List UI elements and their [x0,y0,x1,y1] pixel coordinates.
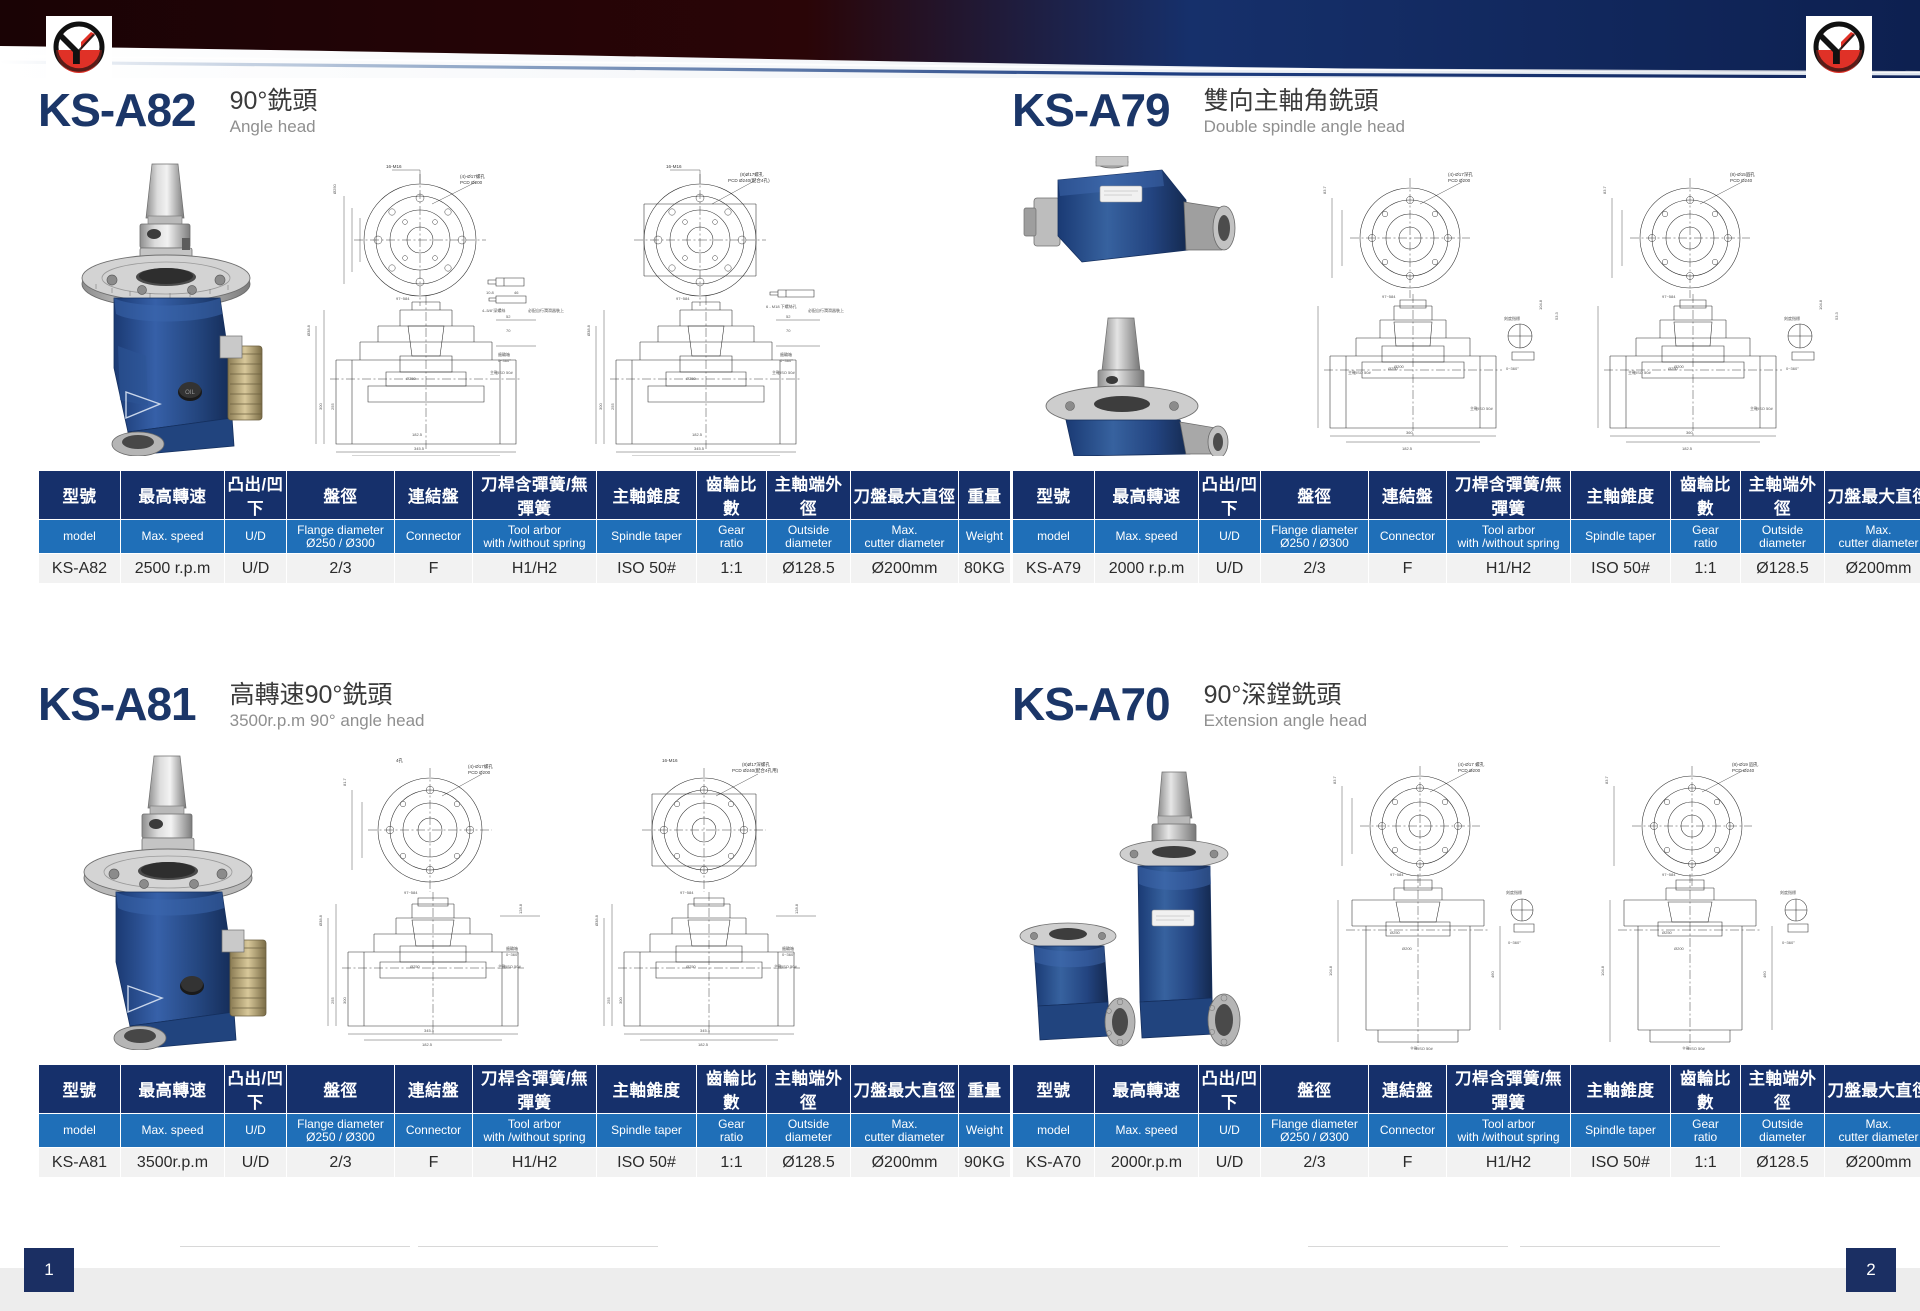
svg-text:104.8: 104.8 [1328,965,1333,976]
cell-ud: U/D [225,1148,287,1178]
th-en-ud: U/D [1199,520,1261,554]
product-photo-ks-a81 [56,750,296,1050]
cell-model: KS-A81 [39,1148,121,1178]
svg-text:Ø38.8: Ø38.8 [586,324,591,336]
technical-drawing-ks-a70: (4)-Ø17 螺孔 PCD Ø200 83.7 (8)-Ø19 圓孔 PCD … [1290,754,1884,1050]
th-cn-cut: 刀盤最大直徑 [851,1065,959,1114]
cell-taper: ISO 50# [1571,554,1671,584]
th-cn-out: 主軸端外徑 [767,471,851,520]
svg-text:Ø38.8: Ø38.8 [594,914,599,926]
svg-text:97~584: 97~584 [396,296,410,301]
svg-text:70: 70 [506,328,511,333]
svg-text:主軸ISO 50#: 主軸ISO 50# [498,963,521,969]
svg-text:97~584: 97~584 [1390,872,1404,877]
th-en-flange: Flange diameterØ250 / Ø300 [287,1114,395,1148]
svg-text:128.8: 128.8 [518,903,523,914]
product-panel-ks-a79: KS-A79 雙向主軸角銑頭 Double spindle angle head [1012,84,1884,584]
svg-text:46: 46 [514,290,519,295]
svg-text:104.8: 104.8 [1600,965,1605,976]
cell-speed: 2000 r.p.m [1095,554,1199,584]
cell-cut: Ø200mm [851,1148,959,1178]
product-title-en: 3500r.p.m 90° angle head [230,710,425,732]
th-en-conn: Connector [395,520,473,554]
svg-text:刻度指標: 刻度指標 [1784,315,1800,321]
cell-arbor: H1/H2 [1447,1148,1571,1178]
table-header-en: model Max. speed U/D Flange diameterØ250… [39,1114,1011,1148]
table-header-cn: 型號 最高轉速 凸出/凹下 盤徑 連結盤 刀桿含彈簧/無彈簧 主軸錐度 齒輪比數… [39,471,1011,520]
th-cn-weight: 重量 [959,1065,1011,1114]
cell-flange: 2/3 [1261,1148,1369,1178]
page-number-left: 1 [24,1248,74,1292]
svg-text:83.7: 83.7 [1602,185,1607,194]
table-header-cn: 型號 最高轉速 凸出/凹下 盤徑 連結盤 刀桿含彈簧/無彈簧 主軸錐度 齒輪比數… [39,1065,1011,1114]
figure-area: (4)-Ø17螺孔 PCD Ø200 4孔 81.7 16-M16 (8)Ø17… [38,750,910,1050]
th-cn-weight: 重量 [959,471,1011,520]
th-cn-ud: 凸出/凹下 [225,471,287,520]
svg-text:0~360°: 0~360° [498,358,511,363]
cell-arbor: H1/H2 [473,554,597,584]
drawing-svg: (4)-Ø17深孔 PCD Ø200 83.7 (8)-Ø15圓孔 PCD Ø2… [1290,160,1884,456]
cell-taper: ISO 50# [597,554,697,584]
product-photo-ks-a79 [1012,156,1272,456]
spec-table-ks-a82: 型號 最高轉速 凸出/凹下 盤徑 連結盤 刀桿含彈簧/無彈簧 主軸錐度 齒輪比數… [38,470,1011,584]
svg-text:PCD Ø200: PCD Ø200 [1448,178,1471,183]
product-title-en: Extension angle head [1204,710,1368,732]
cell-conn: F [395,554,473,584]
svg-text:182.5: 182.5 [1682,446,1693,451]
cell-ud: U/D [1199,554,1261,584]
product-title-cn: 高轉速90°銑頭 [230,680,425,710]
th-en-ud: U/D [225,1114,287,1148]
svg-text:齒輪箱: 齒輪箱 [782,945,794,951]
product-photo-ks-a82: OIL [56,156,296,456]
cell-ud: U/D [225,554,287,584]
svg-text:Ø250: Ø250 [410,964,421,969]
product-header: KS-A79 雙向主軸角銑頭 Double spindle angle head [1012,84,1884,150]
svg-text:Ø250: Ø250 [332,183,337,194]
product-title-cn: 90°銑頭 [230,86,318,116]
th-en-weight: Weight [959,1114,1011,1148]
th-en-out: Outsidediameter [1741,520,1825,554]
th-cn-gear: 齒輪比數 [1671,1065,1741,1114]
svg-text:255: 255 [610,403,615,410]
th-cn-cut: 刀盤最大直徑 [851,471,959,520]
th-en-flange: Flange diameterØ250 / Ø300 [1261,520,1369,554]
table-header-cn: 型號 最高轉速 凸出/凹下 盤徑 連結盤 刀桿含彈簧/無彈簧 主軸錐度 齒輪比數… [1013,471,1920,520]
th-cn-model: 型號 [1013,1065,1095,1114]
table-row: KS-A82 2500 r.p.m U/D 2/3 F H1/H2 ISO 50… [39,554,1011,584]
technical-drawing-ks-a82: (4)-Ø17螺孔 PCD Ø200 16-M16 10.8 46 4–5/8"… [300,160,910,456]
th-cn-model: 型號 [1013,471,1095,520]
th-en-flange: Flange diameterØ250 / Ø300 [287,520,395,554]
drawing-svg: (4)-Ø17 螺孔 PCD Ø200 83.7 (8)-Ø19 圓孔 PCD … [1290,754,1884,1050]
svg-text:345.5: 345.5 [424,1028,435,1033]
svg-text:300: 300 [618,997,623,1004]
svg-text:97~584: 97~584 [1662,872,1676,877]
svg-text:53.3: 53.3 [1834,311,1839,320]
product-header: KS-A81 高轉速90°銑頭 3500r.p.m 90° angle head [38,678,910,744]
th-cn-arbor: 刀桿含彈簧/無彈簧 [473,471,597,520]
top-banner [0,0,1920,78]
svg-text:主軸ISO 50#: 主軸ISO 50# [1410,1045,1433,1050]
table-header-en: model Max. speed U/D Flange diameterØ250… [1013,520,1920,554]
product-code: KS-A82 [38,84,196,136]
cell-cut: Ø200mm [851,554,959,584]
th-en-model: model [39,1114,121,1148]
th-cn-flange: 盤徑 [1261,1065,1369,1114]
cell-cut: Ø200mm [1825,1148,1920,1178]
th-cn-out: 主軸端外徑 [1741,471,1825,520]
th-cn-ud: 凸出/凹下 [1199,1065,1261,1114]
product-header: KS-A70 90°深鏜銑頭 Extension angle head [1012,678,1884,744]
cell-speed: 2000r.p.m [1095,1148,1199,1178]
svg-text:PCD Ø200: PCD Ø200 [460,180,483,185]
svg-text:182.5: 182.5 [412,432,423,437]
product-code: KS-A79 [1012,84,1170,136]
cell-flange: 2/3 [1261,554,1369,584]
svg-text:PCD Ø240: PCD Ø240 [1730,178,1753,183]
svg-text:必配自行潤滑器裝上: 必配自行潤滑器裝上 [808,307,844,313]
svg-text:Ø38.8: Ø38.8 [318,914,323,926]
product-panel-ks-a81: KS-A81 高轉速90°銑頭 3500r.p.m 90° angle head [38,678,910,1178]
svg-text:齒輪箱: 齒輪箱 [506,945,518,951]
cell-model: KS-A79 [1013,554,1095,584]
th-cn-taper: 主軸錐度 [1571,1065,1671,1114]
svg-text:0~360°: 0~360° [780,358,793,363]
company-logo-icon [51,20,107,74]
th-cn-cut: 刀盤最大直徑 [1825,471,1920,520]
th-cn-speed: 最高轉速 [121,471,225,520]
svg-text:83.7: 83.7 [1332,775,1337,784]
svg-text:Ø200: Ø200 [1402,946,1413,951]
cell-model: KS-A82 [39,554,121,584]
cell-arbor: H1/H2 [473,1148,597,1178]
th-en-gear: Gearratio [1671,1114,1741,1148]
svg-text:主軸ISO 50#: 主軸ISO 50# [774,963,797,969]
svg-text:Ø38.8: Ø38.8 [306,324,311,336]
product-title-en: Double spindle angle head [1204,116,1405,138]
page-number-right: 2 [1846,1248,1896,1292]
th-cn-arbor: 刀桿含彈簧/無彈簧 [1447,1065,1571,1114]
svg-text:(4)-Ø17 螺孔: (4)-Ø17 螺孔 [1458,761,1485,768]
svg-text:52: 52 [786,314,791,319]
cell-out: Ø128.5 [767,1148,851,1178]
figure-area: (4)-Ø17深孔 PCD Ø200 83.7 (8)-Ø15圓孔 PCD Ø2… [1012,156,1884,456]
svg-text:刻度指標: 刻度指標 [1780,889,1796,895]
th-en-arbor: Tool arborwith /without spring [1447,520,1571,554]
svg-text:0~360°: 0~360° [1786,366,1799,371]
th-cn-speed: 最高轉速 [1095,471,1199,520]
th-en-model: model [1013,1114,1095,1148]
footer-divider-right [1308,1246,1508,1247]
svg-text:104.8: 104.8 [1818,299,1823,310]
svg-text:OIL: OIL [185,390,195,396]
svg-text:0~360°: 0~360° [1508,940,1521,945]
footer-white-strip [0,1248,1920,1270]
svg-text:182.5: 182.5 [698,1042,709,1047]
svg-text:360: 360 [1406,430,1413,435]
th-cn-flange: 盤徑 [1261,471,1369,520]
th-cn-conn: 連結盤 [395,1065,473,1114]
svg-text:Ø200: Ø200 [1394,364,1405,369]
th-en-flange: Flange diameterØ250 / Ø300 [1261,1114,1369,1148]
th-cn-speed: 最高轉速 [121,1065,225,1114]
product-panel-ks-a82: KS-A82 90°銑頭 Angle head [38,84,910,584]
cell-cut: Ø200mm [1825,554,1920,584]
svg-text:345.5: 345.5 [700,1028,711,1033]
th-cn-ud: 凸出/凹下 [225,1065,287,1114]
table-header-cn: 型號 最高轉速 凸出/凹下 盤徑 連結盤 刀桿含彈簧/無彈簧 主軸錐度 齒輪比數… [1013,1065,1920,1114]
product-code: KS-A70 [1012,678,1170,730]
svg-text:PCD Ø240(配合4孔用): PCD Ø240(配合4孔用) [732,767,779,774]
svg-text:0~360°: 0~360° [782,952,795,957]
th-en-cut: Max.cutter diameter [851,1114,959,1148]
cell-flange: 2/3 [287,1148,395,1178]
th-en-arbor: Tool arborwith /without spring [1447,1114,1571,1148]
th-cn-cut: 刀盤最大直徑 [1825,1065,1920,1114]
cell-taper: ISO 50# [597,1148,697,1178]
drawing-svg: (4)-Ø17螺孔 PCD Ø200 4孔 81.7 16-M16 (8)Ø17… [300,754,910,1050]
svg-text:97~584: 97~584 [680,890,694,895]
cell-gear: 1:1 [1671,554,1741,584]
svg-text:52: 52 [506,314,511,319]
svg-text:300: 300 [342,997,347,1004]
svg-text:345.5: 345.5 [694,446,705,451]
svg-text:360: 360 [1686,430,1693,435]
svg-text:主軸ISO 50#: 主軸ISO 50# [1470,405,1493,411]
th-cn-out: 主軸端外徑 [1741,1065,1825,1114]
cell-arbor: H1/H2 [1447,554,1571,584]
svg-text:4孔: 4孔 [396,757,404,764]
th-en-conn: Connector [1369,1114,1447,1148]
svg-text:PCD Ø200: PCD Ø200 [1458,768,1481,773]
svg-text:主軸ISO 50#: 主軸ISO 50# [1348,369,1371,375]
th-en-ud: U/D [225,520,287,554]
angle-head-photo: OIL [56,156,296,456]
product-code: KS-A81 [38,678,196,730]
svg-text:Ø250: Ø250 [406,376,417,381]
cell-conn: F [395,1148,473,1178]
svg-text:16-M16: 16-M16 [662,758,678,763]
high-speed-angle-head-photo [56,750,296,1050]
svg-text:刻度指標: 刻度指標 [1506,889,1522,895]
th-cn-out: 主軸端外徑 [767,1065,851,1114]
svg-text:0~360°: 0~360° [1782,940,1795,945]
footer-bar [0,1268,1920,1311]
svg-text:(4)-Ø17螺孔: (4)-Ø17螺孔 [460,173,485,180]
th-cn-model: 型號 [39,1065,121,1114]
product-title-block: 雙向主軸角銑頭 Double spindle angle head [1204,84,1405,138]
th-en-taper: Spindle taper [1571,1114,1671,1148]
th-en-weight: Weight [959,520,1011,554]
svg-text:主軸ISO 50#: 主軸ISO 50# [772,369,795,375]
th-cn-conn: 連結盤 [1369,1065,1447,1114]
svg-text:97~584: 97~584 [676,296,690,301]
cell-weight: 90KG [959,1148,1011,1178]
cell-gear: 1:1 [1671,1148,1741,1178]
svg-text:(8)-Ø15圓孔: (8)-Ø15圓孔 [1730,171,1755,178]
product-panel-ks-a70: KS-A70 90°深鏜銑頭 Extension angle head [1012,678,1884,1178]
product-title-cn: 雙向主軸角銑頭 [1204,86,1405,116]
svg-text:主軸ISO 50#: 主軸ISO 50# [1750,405,1773,411]
drawing-svg: (4)-Ø17螺孔 PCD Ø200 16-M16 10.8 46 4–5/8"… [300,160,910,456]
double-spindle-photo [1012,156,1272,456]
svg-text:460: 460 [1762,971,1767,978]
cell-conn: F [1369,554,1447,584]
svg-text:齒輪箱: 齒輪箱 [780,351,792,357]
svg-text:主軸ISO 50#: 主軸ISO 50# [1682,1045,1705,1050]
th-en-taper: Spindle taper [597,1114,697,1148]
product-title-en: Angle head [230,116,318,138]
th-en-taper: Spindle taper [597,520,697,554]
extension-angle-head-photo [1012,750,1272,1050]
product-title-block: 高轉速90°銑頭 3500r.p.m 90° angle head [230,678,425,732]
company-logo-left [46,16,112,78]
th-cn-conn: 連結盤 [1369,471,1447,520]
footer-divider-far [1520,1246,1720,1247]
th-en-gear: Gearratio [697,1114,767,1148]
svg-text:255: 255 [330,403,335,410]
svg-text:255: 255 [330,997,335,1004]
svg-text:Ø250: Ø250 [686,376,697,381]
th-en-out: Outsidediameter [767,1114,851,1148]
svg-text:主軸ISO 50#: 主軸ISO 50# [490,369,513,375]
figure-area: (4)-Ø17 螺孔 PCD Ø200 83.7 (8)-Ø19 圓孔 PCD … [1012,750,1884,1050]
product-title-block: 90°銑頭 Angle head [230,84,318,138]
th-cn-model: 型號 [39,471,121,520]
th-cn-speed: 最高轉速 [1095,1065,1199,1114]
svg-text:PCD Ø240(配合4孔): PCD Ø240(配合4孔) [728,177,770,184]
svg-text:53.3: 53.3 [1554,311,1559,320]
table-row: KS-A70 2000r.p.m U/D 2/3 F H1/H2 ISO 50#… [1013,1148,1920,1178]
th-cn-ud: 凸出/凹下 [1199,471,1261,520]
banner-graphic [0,0,1920,78]
th-en-speed: Max. speed [121,520,225,554]
table-header-en: model Max. speed U/D Flange diameterØ250… [39,520,1011,554]
svg-text:83.7: 83.7 [1604,775,1609,784]
technical-drawing-ks-a79: (4)-Ø17深孔 PCD Ø200 83.7 (8)-Ø15圓孔 PCD Ø2… [1290,160,1884,456]
spec-table-ks-a81: 型號 最高轉速 凸出/凹下 盤徑 連結盤 刀桿含彈簧/無彈簧 主軸錐度 齒輪比數… [38,1064,1011,1178]
cell-taper: ISO 50# [1571,1148,1671,1178]
table-row: KS-A81 3500r.p.m U/D 2/3 F H1/H2 ISO 50#… [39,1148,1011,1178]
svg-text:必配自行潤滑器裝上: 必配自行潤滑器裝上 [528,307,564,313]
cell-flange: 2/3 [287,554,395,584]
svg-text:70: 70 [786,328,791,333]
svg-text:83.7: 83.7 [1322,185,1327,194]
th-en-conn: Connector [395,1114,473,1148]
svg-text:97~584: 97~584 [404,890,418,895]
svg-text:460: 460 [1490,971,1495,978]
th-en-cut: Max.cutter diameter [1825,520,1920,554]
th-en-model: model [39,520,121,554]
svg-text:16-M16: 16-M16 [386,164,402,169]
svg-text:182.5: 182.5 [692,432,703,437]
svg-text:Ø200: Ø200 [1674,364,1685,369]
svg-text:(4)-Ø17深孔: (4)-Ø17深孔 [1448,171,1473,178]
svg-text:97~584: 97~584 [1662,294,1676,299]
svg-text:182.5: 182.5 [422,1042,433,1047]
cell-conn: F [1369,1148,1447,1178]
th-en-taper: Spindle taper [1571,520,1671,554]
svg-text:(8)-Ø19 圓孔: (8)-Ø19 圓孔 [1732,761,1759,768]
svg-text:(4)-Ø17螺孔: (4)-Ø17螺孔 [468,763,493,770]
svg-text:16-M16: 16-M16 [666,164,682,169]
svg-text:6 - M18 下螺絲孔: 6 - M18 下螺絲孔 [766,303,797,309]
technical-drawing-ks-a81: (4)-Ø17螺孔 PCD Ø200 4孔 81.7 16-M16 (8)Ø17… [300,754,910,1050]
svg-text:(8)Ø17深螺孔: (8)Ø17深螺孔 [742,761,770,768]
th-en-conn: Connector [1369,520,1447,554]
cell-gear: 1:1 [697,554,767,584]
svg-text:0~360°: 0~360° [1506,366,1519,371]
svg-text:300: 300 [598,403,603,410]
th-en-out: Outsidediameter [1741,1114,1825,1148]
svg-text:104.8: 104.8 [1538,299,1543,310]
product-header: KS-A82 90°銑頭 Angle head [38,84,910,150]
th-en-speed: Max. speed [1095,1114,1199,1148]
th-cn-flange: 盤徑 [287,1065,395,1114]
svg-text:182.5: 182.5 [1402,446,1413,451]
th-cn-flange: 盤徑 [287,471,395,520]
svg-text:主軸ISO 50#: 主軸ISO 50# [1628,369,1651,375]
cell-speed: 3500r.p.m [121,1148,225,1178]
svg-text:Ø200: Ø200 [1674,946,1685,951]
th-en-out: Outsidediameter [767,520,851,554]
company-logo-right [1806,16,1872,78]
th-cn-arbor: 刀桿含彈簧/無彈簧 [473,1065,597,1114]
cell-out: Ø128.5 [767,554,851,584]
svg-text:4–5/8"深螺絲: 4–5/8"深螺絲 [482,307,505,313]
svg-text:81.7: 81.7 [342,777,347,786]
footer-divider-left [180,1246,410,1247]
th-cn-taper: 主軸錐度 [1571,471,1671,520]
svg-text:10.8: 10.8 [486,290,495,295]
product-title-cn: 90°深鏜銑頭 [1204,680,1368,710]
svg-text:Ø250: Ø250 [1662,930,1673,935]
th-en-gear: Gearratio [1671,520,1741,554]
cell-model: KS-A70 [1013,1148,1095,1178]
th-en-cut: Max.cutter diameter [851,520,959,554]
svg-text:PCD Ø240: PCD Ø240 [1732,768,1755,773]
th-en-arbor: Tool arborwith /without spring [473,1114,597,1148]
svg-text:(8)Ø17螺孔: (8)Ø17螺孔 [740,171,764,178]
th-en-cut: Max.cutter diameter [1825,1114,1920,1148]
cell-out: Ø128.5 [1741,1148,1825,1178]
svg-text:齒輪箱: 齒輪箱 [498,351,510,357]
product-photo-ks-a70 [1012,750,1272,1050]
th-en-gear: Gearratio [697,520,767,554]
cell-weight: 80KG [959,554,1011,584]
th-cn-arbor: 刀桿含彈簧/無彈簧 [1447,471,1571,520]
footer-divider-mid [418,1246,658,1247]
cell-speed: 2500 r.p.m [121,554,225,584]
th-cn-conn: 連結盤 [395,471,473,520]
svg-text:刻度指標: 刻度指標 [1504,315,1520,321]
th-cn-gear: 齒輪比數 [1671,471,1741,520]
svg-text:Ø250: Ø250 [686,964,697,969]
product-title-block: 90°深鏜銑頭 Extension angle head [1204,678,1368,732]
svg-text:PCD Ø200: PCD Ø200 [468,770,491,775]
th-en-model: model [1013,520,1095,554]
table-row: KS-A79 2000 r.p.m U/D 2/3 F H1/H2 ISO 50… [1013,554,1920,584]
svg-text:0~360°: 0~360° [506,952,519,957]
th-en-arbor: Tool arborwith /without spring [473,520,597,554]
svg-text:300: 300 [318,403,323,410]
cell-gear: 1:1 [697,1148,767,1178]
spec-table-ks-a70: 型號 最高轉速 凸出/凹下 盤徑 連結盤 刀桿含彈簧/無彈簧 主軸錐度 齒輪比數… [1012,1064,1920,1178]
table-header-en: model Max. speed U/D Flange diameterØ250… [1013,1114,1920,1148]
th-en-ud: U/D [1199,1114,1261,1148]
spec-table-ks-a79: 型號 最高轉速 凸出/凹下 盤徑 連結盤 刀桿含彈簧/無彈簧 主軸錐度 齒輪比數… [1012,470,1920,584]
